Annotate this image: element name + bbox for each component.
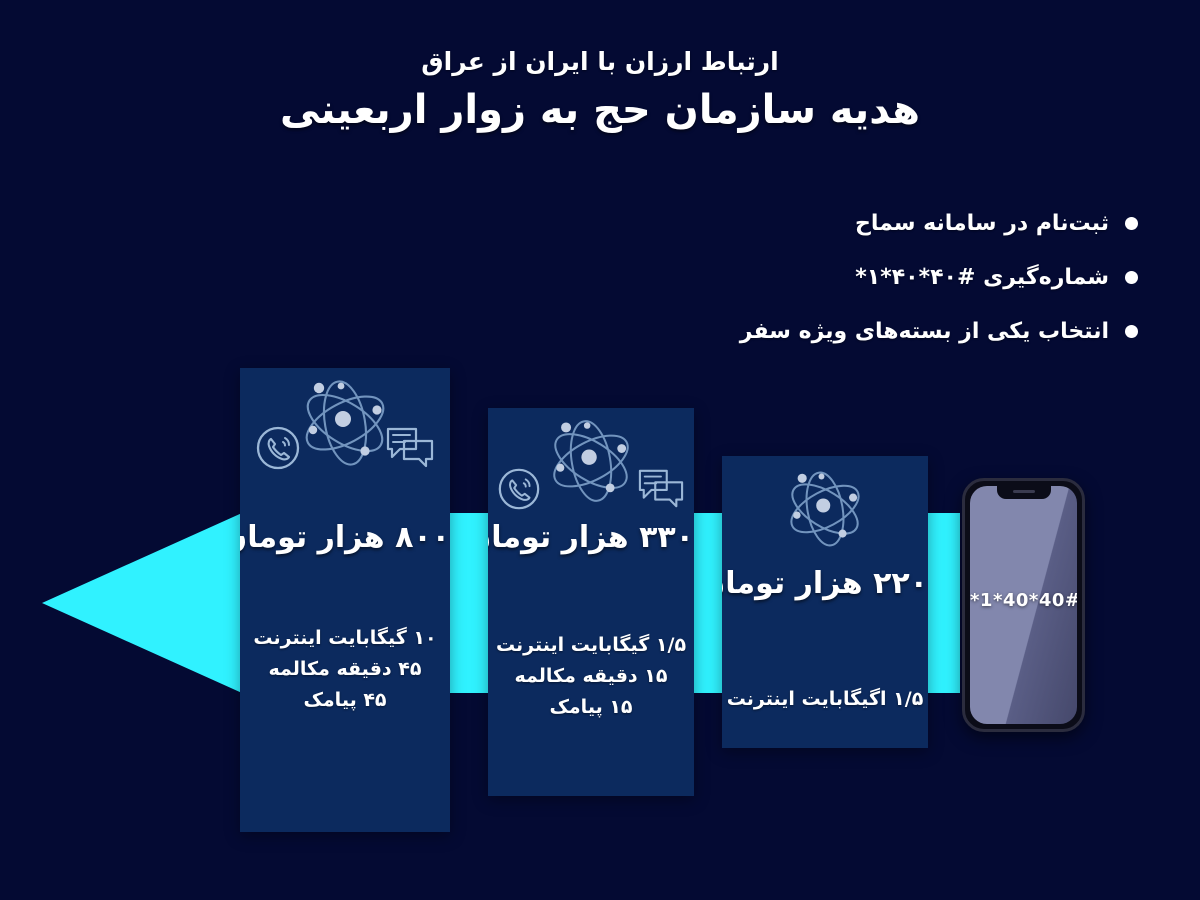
plan-feature: ۴۵ پیامک	[240, 685, 450, 716]
card-icon-group	[488, 408, 694, 528]
header-subtitle: ارتباط ارزان با ایران از عراق	[0, 46, 1200, 77]
instruction-list: ثبت‌نام در سامانه سماح شماره‌گیری #۴۰*۴۰…	[618, 196, 1138, 358]
phone-screen: *1*40*40#	[970, 486, 1077, 724]
atom-network-icon	[541, 414, 641, 508]
plan-features: ۱۰ گیگابایت اینترنت ۴۵ دقیقه مکالمه ۴۵ پ…	[240, 623, 450, 715]
plan-price: ۸۰۰ هزار تومان	[240, 520, 450, 555]
plan-price: ۲۲۰ هزار تومان	[722, 566, 928, 601]
plan-feature: ۱/۵ اگیگابایت اینترنت	[722, 684, 928, 715]
card-icon-group	[240, 368, 450, 488]
card-icon-group	[722, 456, 928, 562]
plan-feature: ۱۵ پیامک	[488, 692, 694, 723]
atom-network-icon	[779, 466, 871, 552]
plan-price: ۳۳۰ هزار تومان	[488, 520, 694, 555]
list-item: ثبت‌نام در سامانه سماح	[618, 196, 1138, 250]
plan-feature: ۱/۵ گیگابایت اینترنت	[488, 630, 694, 661]
list-item: انتخاب یکی از بسته‌های ویژه سفر	[618, 304, 1138, 358]
list-item-label: شماره‌گیری #۴۰*۴۰*۱*	[855, 265, 1109, 290]
plan-card: ۲۲۰ هزار تومان ۱/۵ اگیگابایت اینترنت	[722, 456, 928, 748]
chat-bubbles-icon	[636, 466, 686, 512]
chat-bubbles-icon	[384, 424, 436, 472]
plan-card: ۸۰۰ هزار تومان ۱۰ گیگابایت اینترنت ۴۵ دق…	[240, 368, 450, 832]
phone-call-icon	[254, 424, 302, 472]
bullet-dot-icon	[1125, 271, 1138, 284]
list-item: شماره‌گیری #۴۰*۴۰*۱*	[618, 250, 1138, 304]
header: ارتباط ارزان با ایران از عراق هدیه سازما…	[0, 46, 1200, 135]
plan-features: ۱/۵ اگیگابایت اینترنت	[722, 684, 928, 715]
atom-network-icon	[293, 374, 397, 472]
bullet-dot-icon	[1125, 217, 1138, 230]
phone-speaker-icon	[1013, 490, 1035, 493]
phone-mockup: *1*40*40#	[962, 478, 1085, 732]
plan-feature: ۱۰ گیگابایت اینترنت	[240, 623, 450, 654]
list-item-label: ثبت‌نام در سامانه سماح	[855, 211, 1109, 236]
bullet-dot-icon	[1125, 325, 1138, 338]
list-item-label: انتخاب یکی از بسته‌های ویژه سفر	[740, 319, 1109, 344]
ussd-code-display: *1*40*40#	[970, 590, 1077, 611]
phone-call-icon	[496, 466, 542, 512]
plan-feature: ۴۵ دقیقه مکالمه	[240, 654, 450, 685]
header-title: هدیه سازمان حج به زوار اربعینی	[0, 85, 1200, 135]
plan-feature: ۱۵ دقیقه مکالمه	[488, 661, 694, 692]
plan-card: ۳۳۰ هزار تومان ۱/۵ گیگابایت اینترنت ۱۵ د…	[488, 408, 694, 796]
plan-features: ۱/۵ گیگابایت اینترنت ۱۵ دقیقه مکالمه ۱۵ …	[488, 630, 694, 722]
infographic-canvas: ارتباط ارزان با ایران از عراق هدیه سازما…	[0, 0, 1200, 900]
